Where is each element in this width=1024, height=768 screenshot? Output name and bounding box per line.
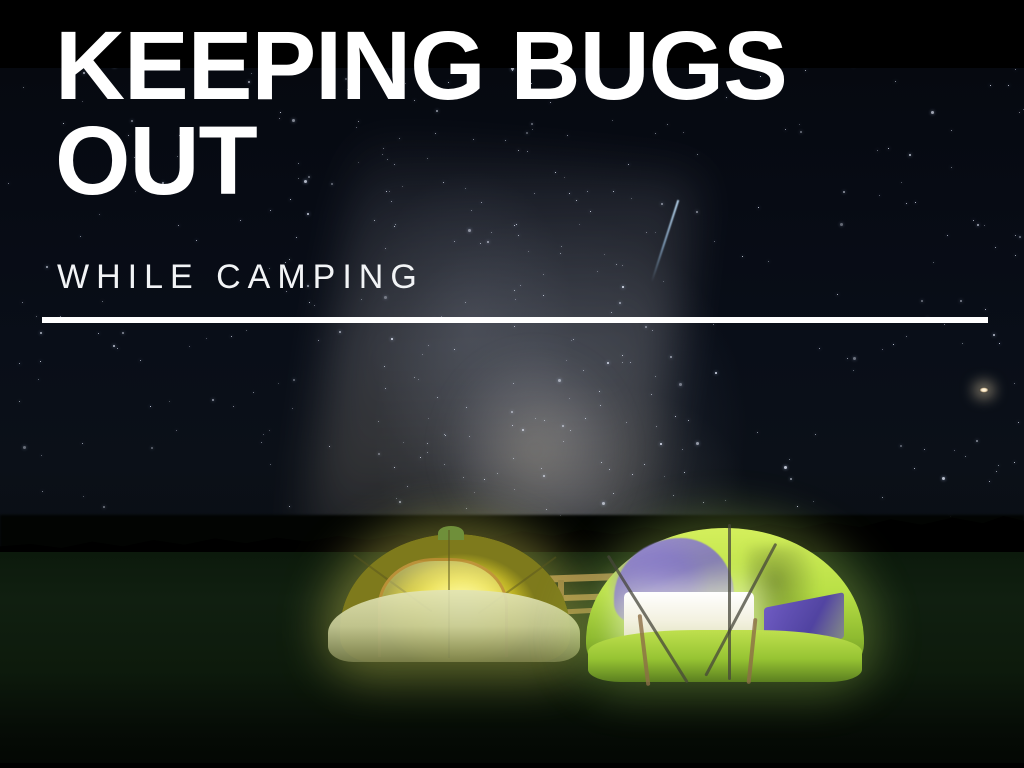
title-divider (42, 317, 988, 323)
star (296, 237, 297, 238)
star (270, 210, 271, 211)
star (909, 154, 911, 156)
star (655, 376, 656, 377)
star (660, 443, 662, 445)
star (607, 362, 609, 364)
tent-left-peak (438, 526, 464, 540)
star (895, 81, 896, 82)
star (999, 343, 1000, 344)
star (513, 383, 514, 384)
star (630, 362, 631, 363)
star (670, 356, 672, 358)
star (688, 420, 689, 421)
star (40, 361, 41, 362)
star (394, 226, 395, 227)
star (571, 340, 572, 341)
star (117, 348, 118, 349)
star (562, 425, 564, 427)
star (471, 210, 472, 211)
star (613, 493, 614, 494)
star (445, 435, 446, 436)
star (597, 271, 598, 272)
star (511, 411, 513, 413)
star (626, 422, 627, 423)
star (583, 370, 584, 371)
star (543, 295, 544, 296)
star (391, 338, 393, 340)
star (942, 477, 945, 480)
star (512, 425, 513, 426)
star (1019, 112, 1020, 113)
star (528, 251, 529, 252)
star (407, 486, 408, 487)
star (768, 261, 769, 262)
star (989, 481, 990, 482)
star (522, 429, 524, 431)
star (644, 464, 645, 465)
star (212, 399, 214, 401)
star (560, 253, 561, 254)
star (418, 379, 419, 380)
star (853, 357, 856, 360)
star (602, 502, 605, 505)
star (113, 345, 115, 347)
star (789, 459, 790, 460)
star (921, 300, 923, 302)
star (696, 442, 699, 445)
star (954, 450, 955, 451)
star (169, 401, 170, 402)
star (609, 469, 610, 470)
star (604, 254, 605, 255)
page-title: KEEPING BUGS OUT (55, 18, 885, 208)
star (19, 401, 20, 402)
star (444, 434, 445, 435)
star (579, 224, 580, 225)
star (1015, 69, 1016, 70)
star (46, 266, 48, 268)
star (901, 182, 902, 183)
star (847, 358, 848, 359)
star (714, 241, 715, 242)
star (270, 464, 271, 465)
star (611, 312, 612, 313)
star (514, 489, 515, 490)
star (888, 148, 889, 149)
star (682, 449, 683, 450)
star (466, 407, 467, 408)
star (1014, 462, 1015, 463)
star (656, 426, 657, 427)
star (742, 256, 743, 257)
bright-star (979, 387, 989, 393)
star (514, 290, 515, 291)
star (269, 430, 270, 431)
star (914, 468, 915, 469)
star (815, 434, 816, 435)
star (984, 225, 985, 226)
tent-right-pole (728, 524, 731, 680)
star (546, 509, 547, 510)
star (41, 455, 42, 456)
slide-canvas: KEEPING BUGS OUT WHILE CAMPING (0, 0, 1024, 768)
star (518, 235, 519, 236)
star (176, 430, 177, 431)
star (178, 225, 179, 226)
star (951, 167, 952, 168)
star (196, 240, 197, 241)
star (427, 443, 428, 444)
star (703, 502, 704, 503)
star (487, 241, 489, 243)
star (246, 330, 247, 331)
star (422, 354, 423, 355)
star (622, 355, 623, 356)
star (924, 449, 925, 450)
star (561, 246, 562, 247)
star (973, 220, 974, 221)
star (599, 391, 600, 392)
star (420, 457, 421, 458)
star (616, 264, 617, 265)
star (102, 301, 103, 302)
star (684, 472, 685, 473)
star (566, 360, 567, 361)
star (444, 464, 445, 465)
star (998, 465, 999, 466)
star (38, 379, 39, 380)
star (292, 408, 293, 409)
star (622, 362, 623, 363)
star (906, 203, 907, 204)
star (329, 446, 330, 447)
star (543, 475, 545, 477)
star (468, 229, 471, 232)
star (993, 334, 995, 336)
tent-left (330, 520, 580, 670)
page-subtitle: WHILE CAMPING (57, 258, 424, 297)
star (497, 473, 498, 474)
star (428, 345, 429, 346)
star (42, 491, 43, 492)
star (563, 441, 564, 442)
star (516, 224, 517, 225)
star (469, 436, 470, 437)
star (19, 363, 20, 364)
star (403, 442, 404, 443)
star (853, 370, 854, 371)
star (231, 336, 232, 337)
star (601, 462, 602, 463)
star (675, 416, 676, 417)
star (976, 440, 978, 442)
star (151, 447, 153, 449)
star (977, 224, 979, 226)
star (240, 220, 241, 221)
star (1019, 236, 1021, 238)
star (80, 236, 81, 237)
star (520, 285, 521, 286)
star (514, 225, 515, 226)
star (36, 316, 37, 317)
star (790, 478, 792, 480)
star (374, 220, 375, 221)
tent-right (580, 518, 870, 686)
star (261, 442, 262, 443)
star (646, 232, 647, 233)
star (474, 492, 475, 493)
tent-left-vestibule (328, 590, 580, 662)
star (622, 265, 623, 266)
star (414, 377, 415, 378)
star (465, 302, 466, 303)
star (385, 388, 386, 389)
star (632, 474, 633, 475)
star (813, 501, 814, 502)
star (622, 286, 624, 288)
star (385, 248, 386, 249)
star (514, 326, 515, 327)
star (664, 476, 665, 477)
star (454, 241, 455, 242)
star (797, 506, 798, 507)
star (1008, 85, 1009, 86)
star (98, 333, 99, 334)
star (960, 300, 962, 302)
star (513, 458, 514, 459)
star (590, 211, 591, 212)
star (314, 305, 315, 306)
star (1018, 422, 1019, 423)
star (289, 506, 290, 507)
star (931, 111, 934, 114)
star (840, 223, 843, 226)
star (673, 495, 674, 496)
star (543, 274, 544, 275)
star (480, 243, 481, 244)
star (83, 496, 84, 497)
star (1015, 255, 1016, 256)
star (378, 453, 380, 455)
star (378, 421, 379, 422)
star (394, 467, 395, 468)
star (696, 211, 698, 213)
star (951, 130, 952, 131)
star (1014, 383, 1015, 384)
star (428, 418, 429, 419)
star (535, 418, 536, 419)
star (293, 379, 295, 381)
star (437, 397, 438, 398)
star (819, 348, 820, 349)
star (23, 87, 24, 88)
star (454, 349, 455, 350)
star (962, 343, 963, 344)
star (900, 445, 902, 447)
star (150, 406, 151, 407)
star (558, 379, 561, 382)
letterbox-bottom (0, 763, 1024, 768)
star (715, 372, 717, 374)
star (645, 326, 647, 328)
star (784, 466, 787, 469)
star (679, 383, 682, 386)
star (318, 340, 319, 341)
star (253, 392, 254, 393)
star (651, 394, 652, 395)
star (893, 344, 894, 345)
star (1015, 235, 1016, 236)
star (8, 183, 9, 184)
star (515, 299, 516, 300)
star (757, 432, 758, 433)
star (484, 479, 485, 480)
star (396, 498, 397, 499)
star (544, 420, 545, 421)
star (996, 471, 997, 472)
star (206, 338, 207, 339)
star (915, 202, 916, 203)
star (573, 339, 574, 340)
star (399, 501, 401, 503)
star (837, 294, 838, 295)
star (339, 331, 341, 333)
star (40, 332, 42, 334)
star (103, 506, 105, 508)
star (906, 336, 907, 337)
star (619, 302, 621, 304)
star (23, 446, 26, 449)
star (569, 398, 570, 399)
star (189, 346, 190, 347)
star (944, 324, 945, 325)
star (655, 232, 656, 233)
star (965, 456, 966, 457)
star (140, 360, 141, 361)
star (361, 299, 362, 300)
star (263, 434, 264, 435)
star (663, 281, 664, 282)
star (600, 405, 601, 406)
star (985, 309, 986, 310)
star (990, 85, 991, 86)
star (427, 452, 428, 453)
star (947, 235, 948, 236)
star (466, 508, 467, 509)
star (122, 332, 124, 334)
star (541, 468, 542, 469)
star (278, 383, 279, 384)
star (652, 330, 653, 331)
star (882, 349, 883, 350)
star (233, 406, 234, 407)
star (713, 324, 714, 325)
star (22, 302, 23, 303)
star (725, 500, 726, 501)
star (307, 213, 309, 215)
star (491, 232, 492, 233)
star (395, 224, 396, 225)
star (570, 430, 571, 431)
star (384, 366, 385, 367)
star (933, 262, 934, 263)
star (82, 443, 83, 444)
star (463, 477, 464, 478)
star (585, 418, 586, 419)
star (882, 497, 883, 498)
star (309, 302, 310, 303)
star (995, 247, 996, 248)
